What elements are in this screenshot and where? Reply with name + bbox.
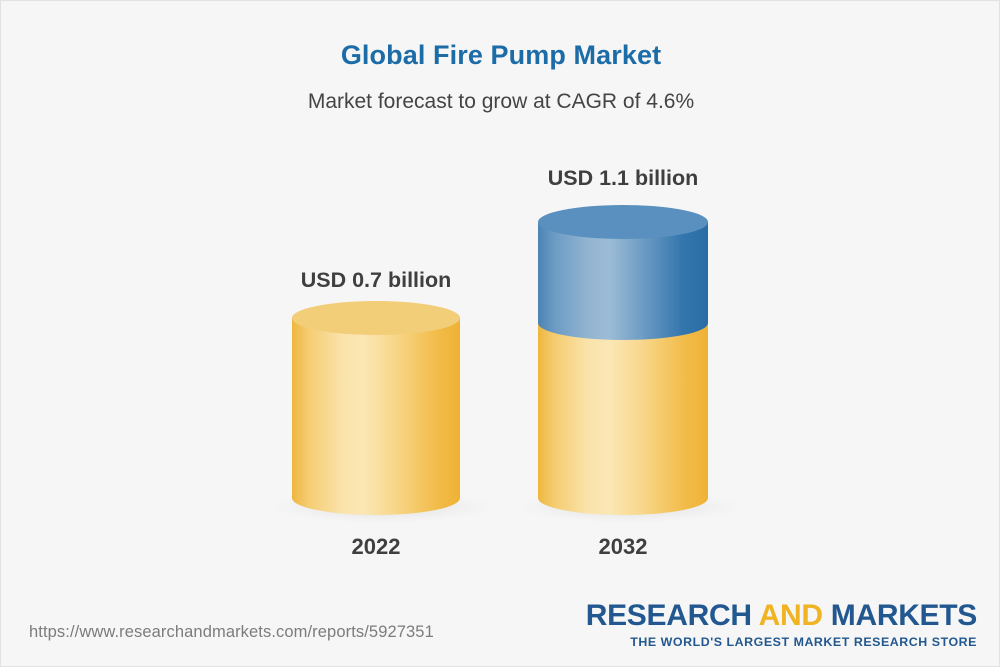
logo-tagline: THE WORLD'S LARGEST MARKET RESEARCH STOR… bbox=[586, 636, 977, 648]
logo-wordmark: RESEARCH AND MARKETS bbox=[586, 601, 977, 631]
bar-value-label-2032: USD 1.1 billion bbox=[538, 166, 708, 191]
bar-value-label-2022: USD 0.7 billion bbox=[292, 268, 460, 293]
bar-category-label-2022: 2022 bbox=[292, 534, 460, 560]
bar-cylinder-2022 bbox=[292, 301, 460, 515]
bar-cylinder-2032 bbox=[538, 205, 708, 515]
source-url[interactable]: https://www.researchandmarkets.com/repor… bbox=[29, 623, 434, 642]
infographic-canvas: Global Fire Pump Market Market forecast … bbox=[0, 0, 1000, 667]
research-and-markets-logo[interactable]: RESEARCH AND MARKETS THE WORLD'S LARGEST… bbox=[586, 601, 977, 648]
cylinder-bars-svg bbox=[1, 1, 1000, 601]
bar-top-cap-2022 bbox=[292, 301, 460, 335]
logo-word-markets: MARKETS bbox=[823, 599, 977, 632]
bar-body-2022 bbox=[292, 318, 460, 515]
logo-word-and: AND bbox=[759, 599, 823, 632]
bar-category-label-2032: 2032 bbox=[538, 534, 708, 560]
bar-top-cap-2032 bbox=[538, 205, 708, 239]
logo-word-research: RESEARCH bbox=[586, 599, 759, 632]
chart-plot-area: USD 0.7 billion USD 1.1 billion 2022 203… bbox=[1, 1, 1000, 601]
bar-body-growth-2032 bbox=[538, 222, 708, 340]
